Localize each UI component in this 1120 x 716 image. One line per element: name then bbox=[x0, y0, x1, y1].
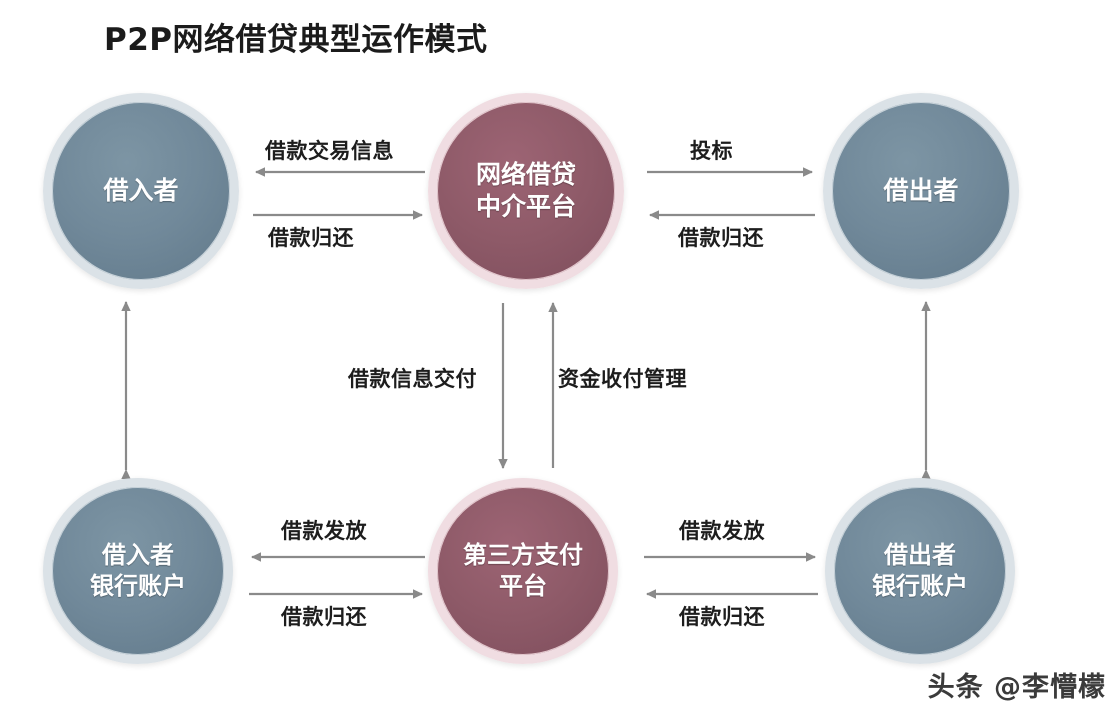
edge-label-bottom-left-upper: 借款发放 bbox=[281, 515, 367, 545]
node-borrower-bank-line-2: 银行账户 bbox=[90, 571, 186, 602]
node-lending-platform[interactable]: 网络借贷 中介平台 bbox=[428, 93, 624, 289]
node-third-party-payment-platform[interactable]: 第三方支付 平台 bbox=[428, 478, 618, 664]
edge-label-top-left-lower: 借款归还 bbox=[268, 222, 354, 252]
edge-label-bottom-right-lower: 借款归还 bbox=[679, 601, 765, 631]
diagram-canvas: P2P网络借贷典型运作模式 bbox=[0, 0, 1120, 716]
edge-label-bottom-left-lower: 借款归还 bbox=[281, 601, 367, 631]
node-lender-bank-account[interactable]: 借出者 银行账户 bbox=[825, 478, 1015, 664]
edge-label-center-down: 借款信息交付 bbox=[348, 363, 477, 393]
node-borrower-bank-line-1: 借入者 bbox=[102, 540, 174, 571]
node-payment-line-1: 第三方支付 bbox=[463, 540, 583, 571]
node-lender-bank-line-2: 银行账户 bbox=[872, 571, 968, 602]
node-payment-line-2: 平台 bbox=[499, 571, 547, 602]
node-lender-line-1: 借出者 bbox=[883, 175, 958, 207]
node-lender-bank-line-1: 借出者 bbox=[884, 540, 956, 571]
edge-label-bottom-right-upper: 借款发放 bbox=[679, 515, 765, 545]
node-lending-platform-line-1: 网络借贷 bbox=[476, 159, 576, 191]
edge-label-center-up: 资金收付管理 bbox=[558, 363, 687, 393]
node-borrower-line-1: 借入者 bbox=[103, 175, 178, 207]
node-lending-platform-line-2: 中介平台 bbox=[476, 191, 576, 223]
edge-label-top-right-lower: 借款归还 bbox=[678, 222, 764, 252]
node-lender[interactable]: 借出者 bbox=[823, 93, 1019, 289]
node-borrower-bank-account[interactable]: 借入者 银行账户 bbox=[43, 478, 233, 664]
watermark-text: 头条 @李懵檬 bbox=[928, 665, 1106, 704]
node-borrower[interactable]: 借入者 bbox=[43, 93, 239, 289]
edge-label-top-right-upper: 投标 bbox=[690, 135, 733, 165]
edge-label-top-left-upper: 借款交易信息 bbox=[265, 135, 394, 165]
